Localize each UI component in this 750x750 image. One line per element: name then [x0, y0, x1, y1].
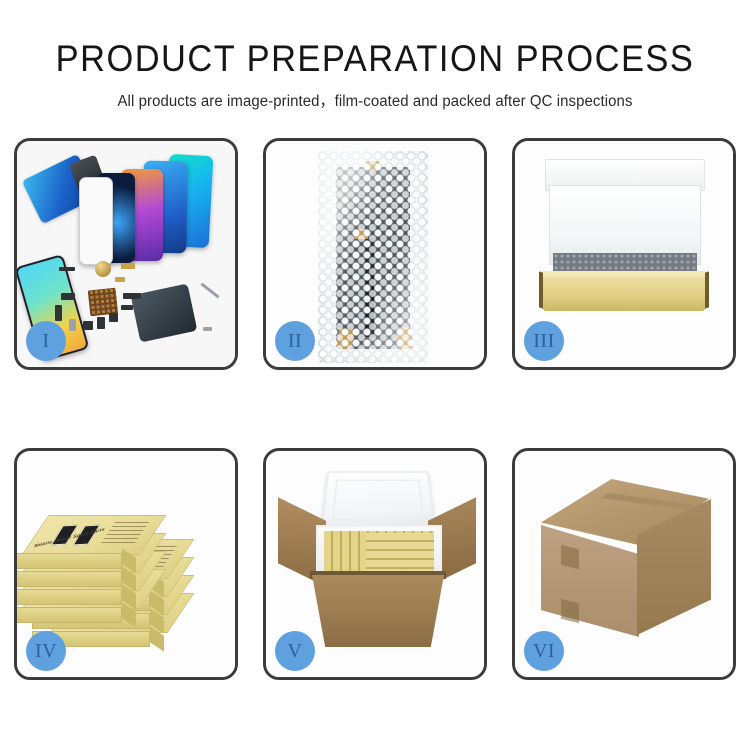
small-part-icon-8	[69, 319, 76, 331]
process-step-2: II	[263, 138, 487, 370]
phone-screen-1-icon	[79, 177, 113, 265]
screw-icon	[203, 327, 212, 331]
foam-lid-icon	[320, 471, 436, 531]
small-part-icon-10	[97, 317, 105, 329]
small-part-icon-9	[83, 321, 93, 330]
small-part-icon-11	[109, 313, 118, 322]
kraft-box-front-icon	[543, 277, 705, 311]
process-step-1: I	[14, 138, 238, 370]
small-part-icon-4	[61, 293, 75, 300]
small-part-icon-5	[55, 305, 62, 321]
process-step-4: Mobile Phone Spare Parts	[14, 448, 238, 680]
process-step-5: V	[263, 448, 487, 680]
carton-tape-icon-2	[561, 599, 579, 623]
carton-tape-icon-1	[561, 545, 579, 569]
step-badge-2: II	[275, 321, 315, 361]
small-part-icon-1	[59, 267, 75, 271]
step-badge-5: V	[275, 631, 315, 671]
box-front-face	[17, 553, 122, 569]
process-steps-grid: I II	[14, 138, 736, 680]
tweezer-tool-icon	[200, 283, 219, 299]
carton-front-icon	[312, 575, 444, 647]
vibration-motor-icon	[95, 261, 111, 277]
step-badge-4: IV	[26, 631, 66, 671]
step-badge-1: I	[26, 321, 66, 361]
page-title: PRODUCT PREPARATION PROCESS	[26, 38, 724, 80]
small-part-icon-6	[123, 293, 141, 299]
yellow-boxes-row-icon-2	[366, 533, 434, 573]
process-step-3: III	[512, 138, 736, 370]
small-part-icon-2	[121, 263, 135, 269]
small-part-icon-7	[121, 305, 133, 310]
product-preparation-infographic: PRODUCT PREPARATION PROCESS All products…	[0, 0, 750, 750]
bubble-texture-overlay-icon	[318, 151, 428, 363]
header: PRODUCT PREPARATION PROCESS All products…	[0, 0, 750, 111]
process-step-6: VI	[512, 448, 736, 680]
carton-left-face-icon	[541, 525, 639, 637]
bubble-wrap-bag-icon	[318, 151, 428, 363]
small-part-icon-3	[115, 277, 125, 282]
step-badge-3: III	[524, 321, 564, 361]
page-subtitle: All products are image-printed，film-coat…	[11, 89, 739, 111]
box-front-face	[17, 607, 122, 623]
box-front-face	[17, 571, 122, 587]
step-badge-6: VI	[524, 631, 564, 671]
box-front-face	[17, 589, 122, 605]
